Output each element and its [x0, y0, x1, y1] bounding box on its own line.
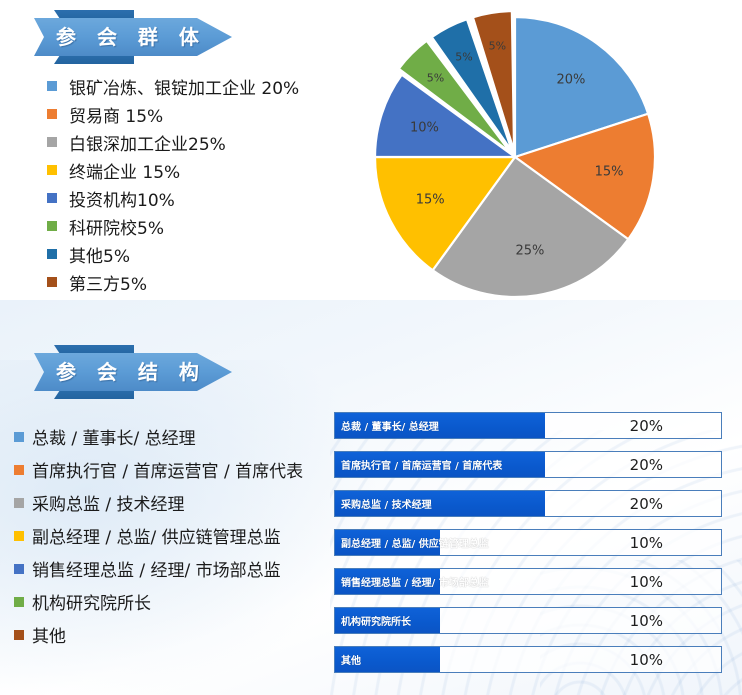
- structure-legend-item: 总裁 / 董事长/ 总经理: [14, 420, 334, 453]
- structure-legend-item: 机构研究院所长: [14, 585, 334, 618]
- structure-color-swatch: [14, 498, 24, 508]
- bar-row: 首席执行官 / 首席运营官 / 首席代表20%: [334, 451, 722, 478]
- legend-item-label: 终端企业 15%: [69, 158, 180, 183]
- slide-canvas: 参 会 群 体 银矿冶炼、银锭加工企业 20%贸易商 15%白银深加工企业25%…: [0, 0, 742, 695]
- legend-item-label: 其他5%: [69, 242, 130, 267]
- structure-color-swatch: [14, 630, 24, 640]
- structure-legend-item: 首席执行官 / 首席运营官 / 首席代表: [14, 453, 334, 486]
- structure-item-label: 其他: [32, 622, 66, 647]
- legend-color-swatch: [47, 249, 57, 259]
- structure-legend-item: 采购总监 / 技术经理: [14, 486, 334, 519]
- bar-value-label: 20%: [630, 413, 663, 438]
- pie-chart: 20%15%25%15%10%5%5%5%: [355, 0, 685, 320]
- section-banner-structure: 参 会 结 构: [34, 345, 234, 399]
- bar-row: 副总经理 / 总监/ 供应链管理总监10%: [334, 529, 722, 556]
- structure-legend-item: 销售经理总监 / 经理/ 市场部总监: [14, 552, 334, 585]
- legend-color-swatch: [47, 221, 57, 231]
- legend-item: 贸易商 15%: [47, 100, 347, 128]
- structure-item-label: 机构研究院所长: [32, 589, 151, 614]
- pie-chart-svg: [355, 0, 685, 320]
- bar-value-label: 20%: [630, 452, 663, 477]
- bar-row: 销售经理总监 / 经理/ 市场部总监10%: [334, 568, 722, 595]
- bar-category-label: 采购总监 / 技术经理: [341, 491, 432, 516]
- legend-item-label: 投资机构10%: [69, 186, 175, 211]
- bar-category-label: 首席执行官 / 首席运营官 / 首席代表: [341, 452, 502, 477]
- structure-color-swatch: [14, 597, 24, 607]
- bar-category-label: 副总经理 / 总监/ 供应链管理总监: [341, 530, 489, 555]
- structure-color-swatch: [14, 564, 24, 574]
- legend-item: 其他5%: [47, 240, 347, 268]
- legend-item-label: 白银深加工企业25%: [69, 130, 226, 155]
- bar-row: 机构研究院所长10%: [334, 607, 722, 634]
- legend-item: 银矿冶炼、银锭加工企业 20%: [47, 72, 347, 100]
- banner-title-groups: 参 会 群 体: [56, 22, 206, 52]
- legend-item-label: 贸易商 15%: [69, 102, 163, 127]
- bar-value-label: 10%: [630, 647, 663, 672]
- structure-color-swatch: [14, 531, 24, 541]
- banner-title-structure: 参 会 结 构: [56, 357, 206, 387]
- structure-color-swatch: [14, 465, 24, 475]
- pie-legend-list: 银矿冶炼、银锭加工企业 20%贸易商 15%白银深加工企业25%终端企业 15%…: [47, 72, 347, 296]
- bar-row: 总裁 / 董事长/ 总经理20%: [334, 412, 722, 439]
- bar-category-label: 其他: [341, 647, 361, 672]
- legend-item: 第三方5%: [47, 268, 347, 296]
- structure-item-label: 销售经理总监 / 经理/ 市场部总监: [32, 556, 281, 581]
- legend-color-swatch: [47, 277, 57, 287]
- structure-legend-item: 副总经理 / 总监/ 供应链管理总监: [14, 519, 334, 552]
- structure-item-label: 采购总监 / 技术经理: [32, 490, 185, 515]
- legend-item: 终端企业 15%: [47, 156, 347, 184]
- legend-item-label: 第三方5%: [69, 270, 147, 295]
- legend-item: 科研院校5%: [47, 212, 347, 240]
- structure-color-swatch: [14, 432, 24, 442]
- legend-item: 白银深加工企业25%: [47, 128, 347, 156]
- bar-value-label: 20%: [630, 491, 663, 516]
- legend-color-swatch: [47, 109, 57, 119]
- legend-item-label: 科研院校5%: [69, 214, 164, 239]
- bar-row: 其他10%: [334, 646, 722, 673]
- structure-legend-item: 其他: [14, 618, 334, 651]
- bar-value-label: 10%: [630, 569, 663, 594]
- legend-color-swatch: [47, 81, 57, 91]
- legend-item: 投资机构10%: [47, 184, 347, 212]
- bar-category-label: 销售经理总监 / 经理/ 市场部总监: [341, 569, 489, 594]
- legend-color-swatch: [47, 137, 57, 147]
- legend-item-label: 银矿冶炼、银锭加工企业 20%: [69, 74, 299, 99]
- structure-item-label: 首席执行官 / 首席运营官 / 首席代表: [32, 457, 303, 482]
- legend-color-swatch: [47, 193, 57, 203]
- structure-item-label: 总裁 / 董事长/ 总经理: [32, 424, 196, 449]
- bar-value-label: 10%: [630, 530, 663, 555]
- legend-color-swatch: [47, 165, 57, 175]
- structure-legend-list: 总裁 / 董事长/ 总经理首席执行官 / 首席运营官 / 首席代表采购总监 / …: [14, 420, 334, 651]
- structure-bar-chart: 总裁 / 董事长/ 总经理20%首席执行官 / 首席运营官 / 首席代表20%采…: [334, 412, 722, 685]
- structure-item-label: 副总经理 / 总监/ 供应链管理总监: [32, 523, 281, 548]
- bar-value-label: 10%: [630, 608, 663, 633]
- section-banner-groups: 参 会 群 体: [34, 10, 234, 64]
- bar-category-label: 机构研究院所长: [341, 608, 411, 633]
- bar-category-label: 总裁 / 董事长/ 总经理: [341, 413, 439, 438]
- bar-row: 采购总监 / 技术经理20%: [334, 490, 722, 517]
